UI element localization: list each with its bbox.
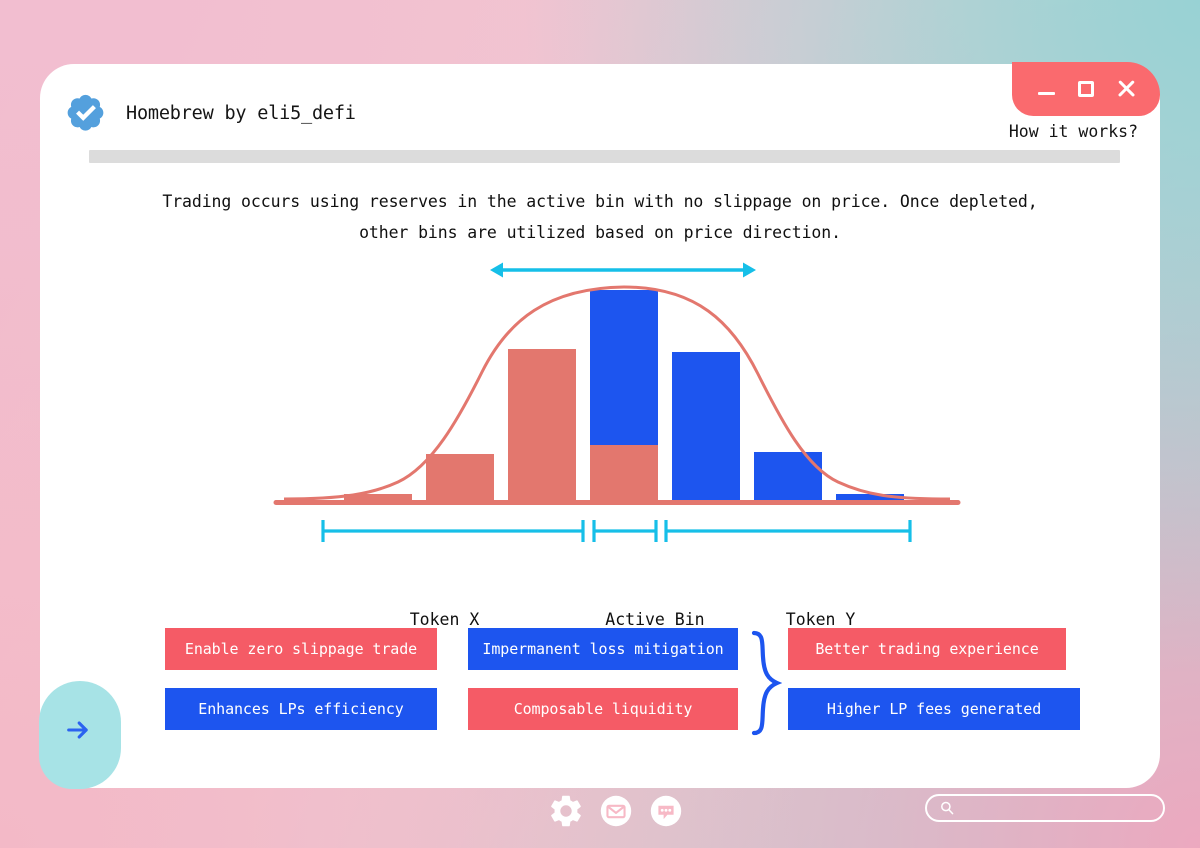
search-icon — [939, 800, 955, 816]
search-bar[interactable] — [925, 794, 1165, 822]
axis-label-token-y: Token Y — [786, 610, 856, 629]
bar-bin-6 — [754, 452, 822, 502]
arrow-right-icon — [68, 722, 92, 748]
close-icon — [1116, 79, 1136, 99]
window-controls — [1012, 62, 1160, 116]
body-text: Trading occurs using reserves in the act… — [40, 186, 1160, 248]
price-range-double-arrow — [490, 263, 756, 278]
liquidity-bin-chart — [272, 256, 962, 576]
curly-brace-icon — [748, 630, 782, 736]
next-slide-button[interactable] — [39, 681, 121, 789]
verified-badge-icon — [60, 88, 110, 138]
feature-enable-zero-slippage-trade[interactable]: Enable zero slippage trade — [165, 628, 437, 670]
feature-better-trading-experience[interactable]: Better trading experience — [788, 628, 1066, 670]
progress-track[interactable] — [89, 150, 1120, 163]
chat-icon[interactable] — [647, 792, 685, 830]
dock-icon-group — [547, 792, 685, 830]
search-input[interactable] — [963, 801, 1153, 816]
axis-label-active-bin: Active Bin — [605, 610, 704, 629]
maximize-button[interactable] — [1072, 75, 1100, 103]
mail-icon[interactable] — [597, 792, 635, 830]
feature-higher-lp-fees-generated[interactable]: Higher LP fees generated — [788, 688, 1080, 730]
bar-active-bin-lower — [590, 445, 658, 502]
bar-bin-2 — [426, 454, 494, 502]
bar-bin-3 — [508, 349, 576, 502]
feature-boxes: Enable zero slippage trade Enhances LPs … — [40, 628, 1160, 748]
maximize-icon — [1078, 81, 1094, 97]
gear-icon[interactable] — [547, 792, 585, 830]
minimize-icon — [1038, 92, 1055, 95]
feature-enhances-lps-efficiency[interactable]: Enhances LPs efficiency — [165, 688, 437, 730]
app-window-card: Homebrew by eli5_defi How it works? Trad… — [40, 64, 1160, 788]
bottom-dock — [0, 788, 1200, 848]
feature-impermanent-loss-mitigation[interactable]: Impermanent loss mitigation — [468, 628, 738, 670]
range-brackets — [323, 520, 910, 542]
window-header: Homebrew by eli5_defi — [60, 88, 356, 138]
chart-svg — [272, 256, 962, 576]
bar-active-bin-upper — [590, 290, 658, 445]
feature-composable-liquidity[interactable]: Composable liquidity — [468, 688, 738, 730]
bar-bin-5 — [672, 352, 740, 502]
page-title: Homebrew by eli5_defi — [126, 103, 356, 124]
how-it-works-link[interactable]: How it works? — [1009, 122, 1138, 141]
axis-label-token-x: Token X — [410, 610, 480, 629]
minimize-button[interactable] — [1032, 75, 1060, 103]
close-button[interactable] — [1112, 75, 1140, 103]
